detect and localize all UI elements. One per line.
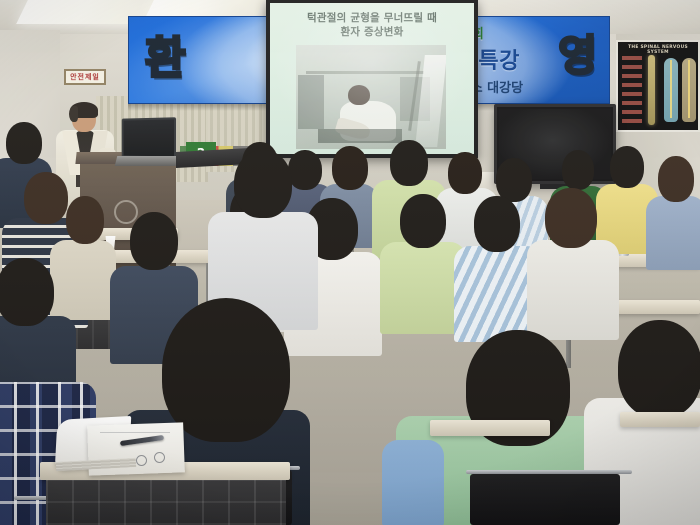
desk-panel-foreground: [46, 480, 286, 525]
poster-spine-illustration: [648, 55, 655, 125]
attendee-back-10-head: [562, 150, 594, 190]
handout-booklet-diagram-circle-1: [136, 455, 147, 466]
attendee-foreground-blue-body: [382, 440, 444, 525]
banner-left-character: 환: [145, 37, 185, 81]
banner-right-character: 영: [558, 35, 597, 77]
lecture-hall-photo: 안전제일 환 CHA의과학대학교 기능의학회 구조의학 ... 법 임상특강 일…: [0, 0, 700, 525]
framed-wall-sign: 안전제일: [64, 69, 106, 85]
slide-title-line-1: 턱관절의 균형을 무너뜨릴 때: [274, 11, 470, 25]
wall-sign-text: 안전제일: [66, 71, 104, 83]
spinal-nervous-system-poster: THE SPINAL NERVOUS SYSTEM: [616, 40, 700, 132]
attendee-back-6-head: [332, 146, 368, 190]
projection-screen: 턱관절의 균형을 무너뜨릴 때 환자 증상변화: [270, 3, 474, 154]
attendee-back-1-head: [6, 122, 42, 164]
handout-booklet-diagram-circle-2: [154, 452, 165, 463]
attendee-mid-3-head: [400, 194, 446, 248]
desk-foreground-far-right: [620, 412, 700, 427]
attendee-front-far-right-head: [618, 320, 700, 418]
slide-photo-wall-rail: [306, 71, 424, 74]
laptop-screen: [122, 117, 176, 158]
attendee-back-3-body: [50, 240, 116, 320]
presenter-hair-side: [69, 106, 78, 122]
desk-foreground-right: [430, 420, 550, 436]
attendee-back-5-head: [288, 150, 322, 190]
projection-screen-frame: 턱관절의 균형을 무너뜨릴 때 환자 증상변화: [266, 0, 478, 158]
slide-photo-patient-head: [348, 85, 370, 105]
poster-nerve-path-1: [670, 60, 672, 118]
slide-photo-table: [318, 129, 402, 143]
attendee-back-11-head: [610, 146, 644, 188]
attendee-back-12-body: [646, 196, 700, 270]
podium-emblem: [114, 200, 138, 224]
attendee-back-2-head: [24, 172, 68, 224]
slide-photo-cabinet: [298, 75, 324, 129]
chair-rail-2: [466, 470, 632, 474]
attendee-front-center-main-head: [162, 298, 290, 442]
chair-back-2: [470, 474, 620, 525]
attendee-back-7-head: [390, 140, 428, 186]
attendee-mid-5-head: [545, 188, 597, 248]
slide-photo: [296, 45, 446, 149]
poster-title: THE SPINAL NERVOUS SYSTEM: [618, 45, 698, 55]
attendee-back-12-head: [658, 156, 694, 202]
poster-nerve-path-2: [688, 60, 690, 118]
attendee-mid-6-head: [130, 212, 178, 270]
attendee-front-left-head: [0, 258, 54, 326]
attendee-back-8-head: [448, 152, 482, 194]
attendee-back-3-head: [66, 196, 104, 244]
slide-title-line-2: 환자 증상변화: [274, 25, 470, 39]
attendee-mid-4-head: [474, 196, 520, 252]
attendee-front-center-tall-head: [234, 150, 292, 218]
ceiling-light-fixture-2: [146, 0, 264, 16]
attendee-mid-5-body: [527, 240, 619, 340]
poster-vertebra-column: [622, 56, 642, 126]
